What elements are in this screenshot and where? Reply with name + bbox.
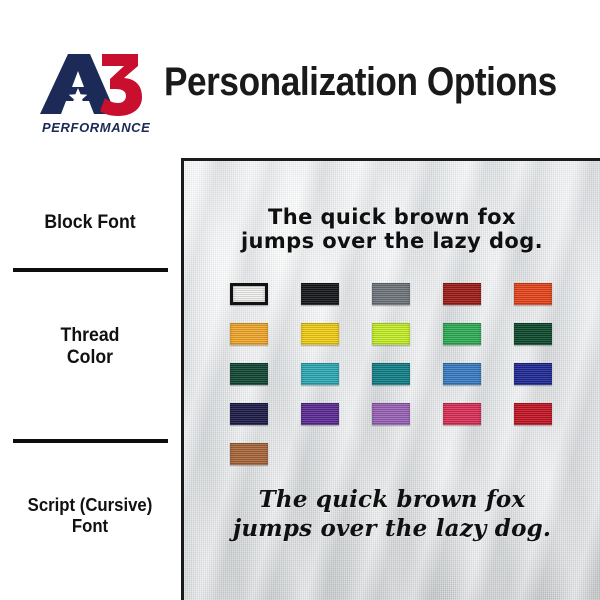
script-font-line-1: Script (Cursive) bbox=[6, 495, 173, 516]
thread-swatch-copper-metallic[interactable] bbox=[230, 443, 268, 465]
sidebar: Block Font Thread Color Script (Cursive)… bbox=[0, 150, 180, 600]
swatch-weave-texture bbox=[443, 363, 481, 385]
swatch-weave-texture bbox=[230, 363, 268, 385]
sidebar-label-block-font: Block Font bbox=[6, 212, 173, 234]
thread-color-line-1: Thread bbox=[6, 325, 173, 347]
page-header: PERFORMANCE Personalization Options bbox=[0, 0, 600, 150]
swatch-weave-texture bbox=[514, 363, 552, 385]
thread-swatch-black[interactable] bbox=[301, 283, 339, 305]
thread-swatch-pink-rose[interactable] bbox=[443, 403, 481, 425]
thread-swatch-medium-blue[interactable] bbox=[443, 363, 481, 385]
swatch-weave-texture bbox=[443, 323, 481, 345]
sidebar-label-script-font: Script (Cursive) Font bbox=[6, 495, 173, 537]
swatch-weave-texture bbox=[443, 403, 481, 425]
swatch-weave-texture bbox=[514, 403, 552, 425]
thread-swatch-orange-gold[interactable] bbox=[230, 323, 268, 345]
embroidery-sample-photo: The quick brown fox jumps over the lazy … bbox=[181, 158, 600, 600]
sidebar-divider-1 bbox=[13, 268, 168, 272]
swatch-weave-texture bbox=[372, 323, 410, 345]
sidebar-divider-2 bbox=[13, 439, 168, 443]
thread-swatch-yellow[interactable] bbox=[301, 323, 339, 345]
sidebar-label-thread-color: Thread Color bbox=[6, 325, 173, 370]
swatch-row bbox=[230, 443, 580, 483]
swatch-weave-texture bbox=[514, 323, 552, 345]
thread-swatch-dark-blue[interactable] bbox=[514, 363, 552, 385]
swatch-weave-texture bbox=[233, 286, 265, 302]
script-font-sample: The quick brown fox jumps over the lazy … bbox=[184, 485, 600, 544]
thread-swatch-dark-green[interactable] bbox=[514, 323, 552, 345]
logo-number-3 bbox=[100, 54, 142, 116]
block-sample-line-2: jumps over the lazy dog. bbox=[184, 229, 600, 253]
thread-swatch-light-teal[interactable] bbox=[301, 363, 339, 385]
thread-swatch-navy[interactable] bbox=[230, 403, 268, 425]
swatch-weave-texture bbox=[301, 403, 339, 425]
thread-swatch-orange-red[interactable] bbox=[514, 283, 552, 305]
a3-performance-logo: PERFORMANCE bbox=[32, 48, 150, 138]
swatch-weave-texture bbox=[301, 283, 339, 305]
thread-color-line-2: Color bbox=[6, 347, 173, 369]
logo-artwork: PERFORMANCE bbox=[32, 48, 150, 138]
swatch-weave-texture bbox=[372, 363, 410, 385]
thread-swatch-dark-red[interactable] bbox=[443, 283, 481, 305]
swatch-row bbox=[230, 403, 580, 443]
thread-swatch-gray[interactable] bbox=[372, 283, 410, 305]
page-title: Personalization Options bbox=[164, 60, 557, 105]
swatch-weave-texture bbox=[372, 283, 410, 305]
swatch-row bbox=[230, 363, 580, 403]
swatch-weave-texture bbox=[301, 363, 339, 385]
swatch-row bbox=[230, 323, 580, 363]
thread-swatch-lime[interactable] bbox=[372, 323, 410, 345]
thread-swatch-red[interactable] bbox=[514, 403, 552, 425]
swatch-weave-texture bbox=[372, 403, 410, 425]
thread-swatch-forest-green[interactable] bbox=[230, 363, 268, 385]
thread-swatch-light-purple[interactable] bbox=[372, 403, 410, 425]
script-font-line-2: Font bbox=[6, 516, 173, 537]
swatch-weave-texture bbox=[443, 283, 481, 305]
block-font-sample: The quick brown fox jumps over the lazy … bbox=[184, 205, 600, 254]
swatch-weave-texture bbox=[230, 323, 268, 345]
block-sample-line-1: The quick brown fox bbox=[184, 205, 600, 229]
script-sample-line-2: jumps over the lazy dog. bbox=[184, 514, 600, 543]
swatch-weave-texture bbox=[230, 403, 268, 425]
swatch-weave-texture bbox=[301, 323, 339, 345]
swatch-weave-texture bbox=[230, 443, 268, 465]
thread-color-swatch-grid bbox=[230, 283, 580, 483]
photo-content: The quick brown fox jumps over the lazy … bbox=[184, 161, 600, 600]
swatch-row bbox=[230, 283, 580, 323]
logo-wordmark: PERFORMANCE bbox=[42, 120, 150, 135]
script-sample-line-1: The quick brown fox bbox=[184, 485, 600, 514]
thread-swatch-teal[interactable] bbox=[372, 363, 410, 385]
thread-swatch-white[interactable] bbox=[230, 283, 268, 305]
thread-swatch-purple[interactable] bbox=[301, 403, 339, 425]
thread-swatch-green[interactable] bbox=[443, 323, 481, 345]
swatch-weave-texture bbox=[514, 283, 552, 305]
